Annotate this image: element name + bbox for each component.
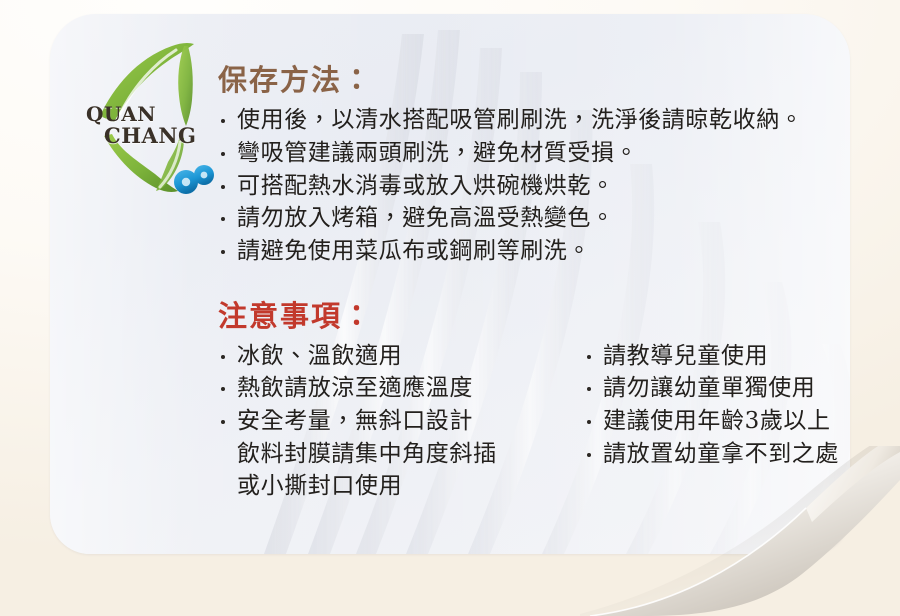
- list-item: 請勿讓幼童單獨使用: [584, 372, 850, 405]
- storage-bullet-list: 使用後，以清水搭配吸管刷刷洗，洗淨後請晾乾收納。 彎吸管建議兩頭刷洗，避免材質受…: [218, 104, 850, 267]
- list-item: 使用後，以清水搭配吸管刷刷洗，洗淨後請晾乾收納。: [218, 104, 850, 137]
- list-item: 彎吸管建議兩頭刷洗，避免材質受損。: [218, 137, 850, 170]
- list-item: 冰飲、溫飲適用: [218, 340, 548, 373]
- list-item: 請勿放入烤箱，避免高溫受熱變色。: [218, 202, 850, 235]
- list-item: 請避免使用菜瓜布或鋼刷等刷洗。: [218, 235, 850, 268]
- brand-wordmark-line1: QUAN: [76, 104, 236, 124]
- card-content: 保存方法： 使用後，以清水搭配吸管刷刷洗，洗淨後請晾乾收納。 彎吸管建議兩頭刷洗…: [218, 62, 850, 503]
- storage-heading: 保存方法：: [218, 62, 850, 98]
- section-notice: 注意事項： 冰飲、溫飲適用 熱飲請放涼至適應溫度 安全考量，無斜口設計 飲料封膜…: [218, 298, 850, 504]
- brand-logo: QUAN CHANG: [76, 30, 236, 200]
- notice-bullet-list-right: 請教導兒童使用 請勿讓幼童單獨使用 建議使用年齡3歲以上 請放置幼童拿不到之處: [584, 340, 850, 503]
- list-item: 可搭配熱水消毒或放入烘碗機烘乾。: [218, 170, 850, 203]
- brand-wordmark: QUAN CHANG: [76, 104, 236, 146]
- notice-bullet-list-left: 冰飲、溫飲適用 熱飲請放涼至適應溫度 安全考量，無斜口設計 飲料封膜請集中角度斜…: [218, 340, 548, 503]
- slide-canvas: QUAN CHANG 保存方法： 使用後，以清水搭配吸管刷刷洗，洗淨後請晾乾收納…: [0, 0, 900, 616]
- notice-heading: 注意事項：: [218, 298, 850, 334]
- list-item: 安全考量，無斜口設計 飲料封膜請集中角度斜插 或小撕封口使用: [218, 405, 548, 503]
- notice-columns: 冰飲、溫飲適用 熱飲請放涼至適應溫度 安全考量，無斜口設計 飲料封膜請集中角度斜…: [218, 340, 850, 503]
- list-item: 建議使用年齡3歲以上: [584, 405, 850, 438]
- brand-wordmark-line2: CHANG: [76, 125, 236, 146]
- section-storage: 保存方法： 使用後，以清水搭配吸管刷刷洗，洗淨後請晾乾收納。 彎吸管建議兩頭刷洗…: [218, 62, 850, 268]
- content-card: QUAN CHANG 保存方法： 使用後，以清水搭配吸管刷刷洗，洗淨後請晾乾收納…: [50, 14, 850, 554]
- list-item: 請教導兒童使用: [584, 340, 850, 373]
- list-item: 請放置幼童拿不到之處: [584, 438, 850, 471]
- list-item: 熱飲請放涼至適應溫度: [218, 372, 548, 405]
